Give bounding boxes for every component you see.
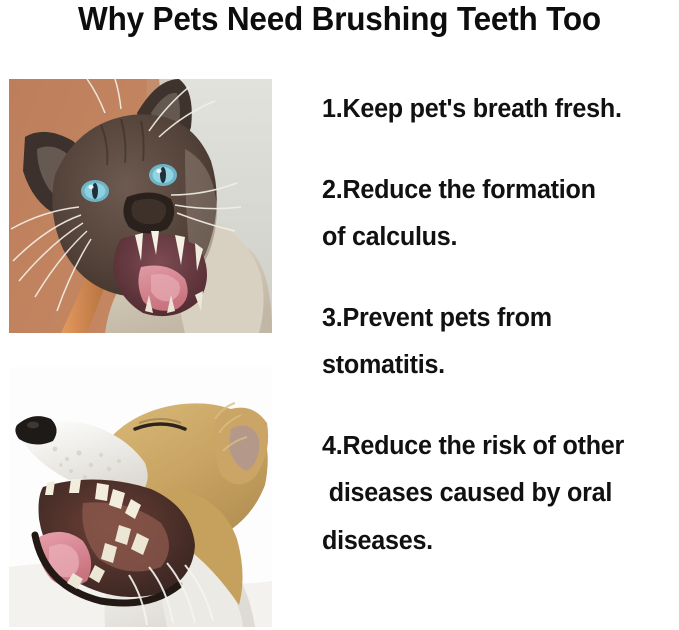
list-item: 4.Reduce the risk of other diseases caus… (322, 423, 672, 566)
cat-yawning-photo (9, 79, 272, 333)
dog-yawning-illustration (9, 367, 272, 627)
list-item: 3.Prevent pets from stomatitis. (322, 295, 672, 390)
list-item-line: 3.Prevent pets from (322, 295, 667, 343)
list-item-line: 2.Reduce the formation (322, 167, 667, 215)
list-item-line: diseases. (322, 518, 667, 566)
reasons-list: 1.Keep pet's breath fresh. 2.Reduce the … (322, 86, 672, 565)
list-item-line: 4.Reduce the risk of other (322, 423, 667, 471)
list-item-line: diseases caused by oral (322, 470, 667, 518)
list-item: 2.Reduce the formation of calculus. (322, 167, 672, 262)
list-item-line: stomatitis. (322, 342, 667, 390)
list-item-line: 1.Keep pet's breath fresh. (322, 86, 667, 134)
list-item-line: of calculus. (322, 214, 667, 262)
page-title: Why Pets Need Brushing Teeth Too (20, 0, 658, 44)
list-item: 1.Keep pet's breath fresh. (322, 86, 672, 134)
dog-yawning-photo (9, 367, 272, 627)
cat-yawning-illustration (9, 79, 272, 333)
